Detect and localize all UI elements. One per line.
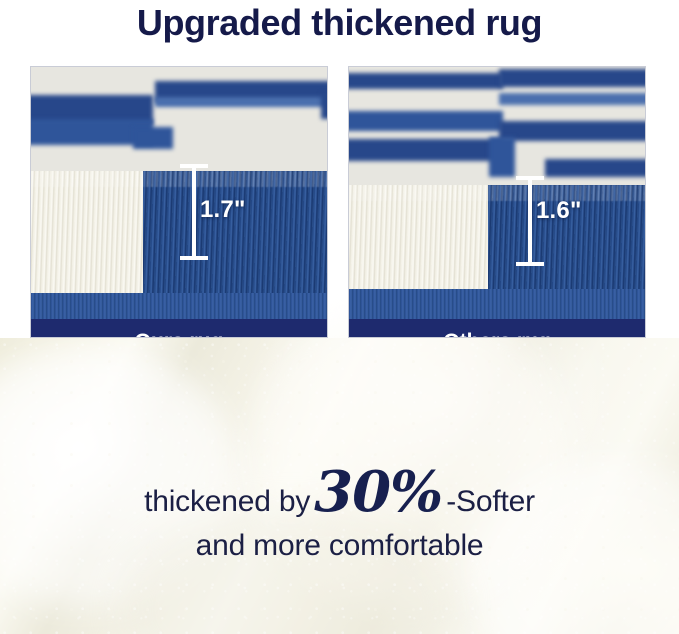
page-title: Upgraded thickened rug — [0, 2, 679, 44]
rug-stripe — [545, 159, 646, 177]
promo-percent-value: 30% — [314, 470, 442, 515]
rug-stripe — [499, 93, 646, 105]
rug-stripe — [499, 121, 646, 141]
rug-photo-others — [349, 67, 645, 337]
comparison-panel-others: Others rug — [348, 66, 646, 338]
rug-stripe — [348, 73, 503, 89]
rug-check-square — [133, 127, 173, 149]
rug-pile-others — [349, 185, 645, 289]
promo-line-1: thickened by 30% -Softer — [0, 470, 679, 519]
rug-pile-blue-section — [143, 171, 327, 293]
rug-pile-tips — [143, 171, 327, 187]
measurement-stem — [528, 176, 532, 266]
promo-line-2: and more comfortable — [0, 529, 679, 563]
rug-stripe — [348, 139, 503, 161]
panel-caption-label: Ours rug — [135, 330, 224, 338]
rug-pile-white-section — [31, 171, 143, 293]
measurement-label-ours: 1.7" — [200, 196, 246, 224]
rug-surface-top-view-others — [349, 67, 645, 185]
measurement-stem — [192, 164, 196, 260]
panel-caption-ours: Ours rug — [31, 319, 327, 338]
panel-caption-label: Others rug — [443, 330, 550, 338]
rug-pile-tips — [31, 171, 143, 187]
promo-suffix: -Softer — [446, 485, 535, 519]
foam-highlight-2 — [250, 308, 570, 608]
measurement-label-others: 1.6" — [536, 197, 582, 225]
measurement-cap-top — [516, 176, 544, 180]
measurement-cap-bottom — [516, 262, 544, 266]
rug-binding-band-ours — [31, 293, 327, 319]
measurement-cap-top — [180, 164, 208, 168]
rug-stripe — [489, 137, 515, 177]
rug-check-square — [155, 97, 328, 107]
product-comparison-infographic: Upgraded thickened rug — [0, 0, 679, 634]
rug-check-square — [321, 93, 328, 119]
rug-pile-tips — [349, 185, 488, 201]
rug-surface-top-view-ours — [31, 67, 327, 171]
measurement-cap-bottom — [180, 256, 208, 260]
promo-prefix: thickened by — [144, 485, 310, 519]
rug-binding-band-others — [349, 289, 645, 319]
rug-stripe — [348, 111, 503, 131]
promo-copy: thickened by 30% -Softer and more comfor… — [0, 470, 679, 563]
panel-caption-others: Others rug — [349, 319, 645, 338]
rug-stripe — [499, 69, 646, 87]
rug-pile-white-section — [349, 185, 488, 289]
